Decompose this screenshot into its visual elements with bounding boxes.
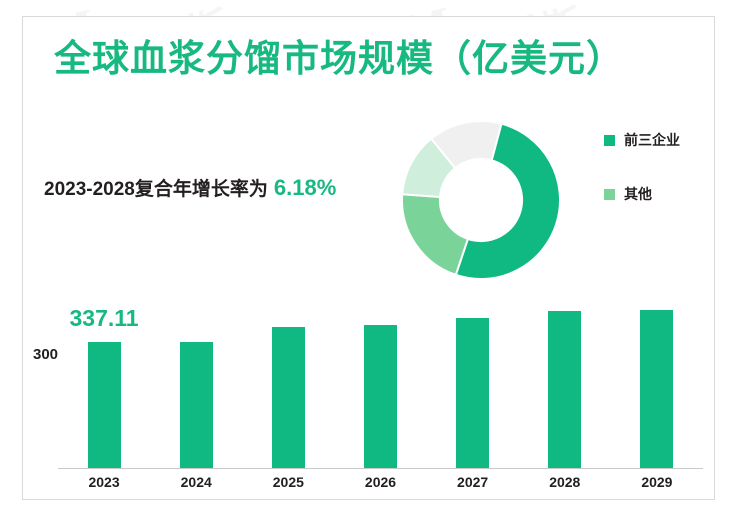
x-axis-tick-label: 2028 [525, 474, 605, 490]
legend-swatch-top3 [604, 135, 615, 146]
bar-column[interactable] [248, 292, 328, 468]
bar[interactable] [548, 311, 581, 468]
cagr-label: 2023-2028复合年增长率为 [44, 179, 268, 200]
bar[interactable] [88, 342, 121, 468]
legend-label-other: 其他 [624, 184, 652, 204]
bar-chart: 300 337.11 2023202420252026202720282029 [33, 292, 703, 502]
bar-column[interactable] [525, 292, 605, 468]
chart-canvas: M 贝哲斯 M 贝哲斯 M 贝哲斯 M 贝哲斯 M 贝哲斯 M 贝哲斯 全球血浆… [0, 0, 734, 520]
legend-swatch-other [604, 189, 615, 200]
bar[interactable] [364, 325, 397, 468]
bar-column[interactable] [340, 292, 420, 468]
y-axis-tick-label: 300 [33, 346, 58, 363]
bar-column[interactable] [156, 292, 236, 468]
bar-series: 337.11 [58, 292, 703, 468]
donut-chart [398, 117, 564, 283]
page-title: 全球血浆分馏市场规模（亿美元） [54, 38, 694, 81]
x-axis-tick-label: 2026 [340, 474, 420, 490]
bar[interactable] [456, 318, 489, 468]
cagr-annotation: 2023-2028复合年增长率为6.18% [44, 174, 336, 201]
bar[interactable] [180, 342, 213, 468]
bar[interactable] [640, 310, 673, 468]
donut-hole [441, 160, 521, 240]
donut-svg [398, 117, 564, 283]
bar-column[interactable]: 337.11 [64, 292, 144, 468]
bar-column[interactable] [617, 292, 697, 468]
legend-item-other[interactable]: 其他 [604, 184, 714, 204]
x-axis-tick-label: 2024 [156, 474, 236, 490]
x-axis-line [58, 468, 703, 469]
bar-value-label: 337.11 [70, 305, 139, 332]
x-axis-tick-label: 2025 [248, 474, 328, 490]
x-axis-labels: 2023202420252026202720282029 [58, 474, 703, 490]
x-axis-tick-label: 2029 [617, 474, 697, 490]
cagr-value: 6.18% [274, 175, 336, 200]
x-axis-tick-label: 2027 [433, 474, 513, 490]
legend-item-top3[interactable]: 前三企业 [604, 130, 714, 150]
bar[interactable] [272, 327, 305, 468]
bar-column[interactable] [433, 292, 513, 468]
x-axis-tick-label: 2023 [64, 474, 144, 490]
legend: 前三企业 其他 [604, 130, 714, 238]
legend-label-top3: 前三企业 [624, 130, 680, 150]
